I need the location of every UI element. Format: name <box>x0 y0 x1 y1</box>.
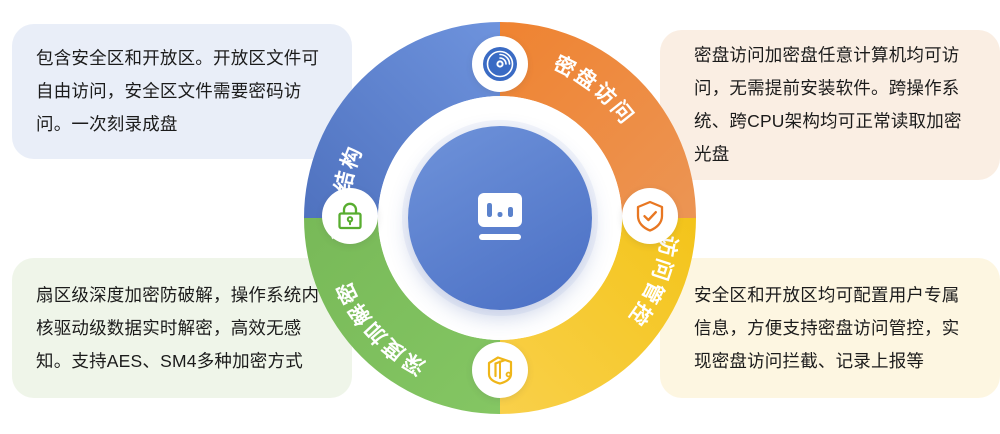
info-card-secure-disk-access: 密盘访问加密盘任意计算机均可访问，无需提前安装软件。跨操作系统、跨CPU架构均可… <box>660 30 1000 180</box>
info-card-text: 扇区级深度加密防破解，操作系统内核驱动级数据实时解密，高效无感知。支持AES、S… <box>36 279 326 378</box>
info-card-disc-structure: 包含安全区和开放区。开放区文件可自由访问，安全区文件需要密码访问。一次刻录成盘 <box>12 24 352 159</box>
info-card-deep-encryption: 扇区级深度加密防破解，操作系统内核驱动级数据实时解密，高效无感知。支持AES、S… <box>12 258 352 398</box>
server-monitor-icon <box>470 189 530 247</box>
segment-icon-disc-structure[interactable] <box>472 36 528 92</box>
shield-check-icon <box>633 199 667 233</box>
center-badge <box>408 126 592 310</box>
compact-disc-icon <box>481 45 519 83</box>
info-card-text: 密盘访问加密盘任意计算机均可访问，无需提前安装软件。跨操作系统、跨CPU架构均可… <box>694 39 974 171</box>
padlock-icon <box>333 199 367 233</box>
infographic-canvas: 包含安全区和开放区。开放区文件可自由访问，安全区文件需要密码访问。一次刻录成盘 … <box>0 0 1000 434</box>
info-card-text: 安全区和开放区均可配置用户专属信息，方便支持密盘访问管控，实现密盘访问拦截、记录… <box>694 279 974 378</box>
folder-shield-icon <box>482 352 518 388</box>
segment-icon-deep-encryption[interactable] <box>322 188 378 244</box>
info-card-access-control: 安全区和开放区均可配置用户专属信息，方便支持密盘访问管控，实现密盘访问拦截、记录… <box>660 258 1000 398</box>
segment-icon-secure-disk-access[interactable] <box>622 188 678 244</box>
info-card-text: 包含安全区和开放区。开放区文件可自由访问，安全区文件需要密码访问。一次刻录成盘 <box>36 42 326 141</box>
donut-diagram: 光盘结构 密盘访问 访问管控 深度加解密 <box>302 20 698 416</box>
segment-icon-access-control[interactable] <box>472 342 528 398</box>
